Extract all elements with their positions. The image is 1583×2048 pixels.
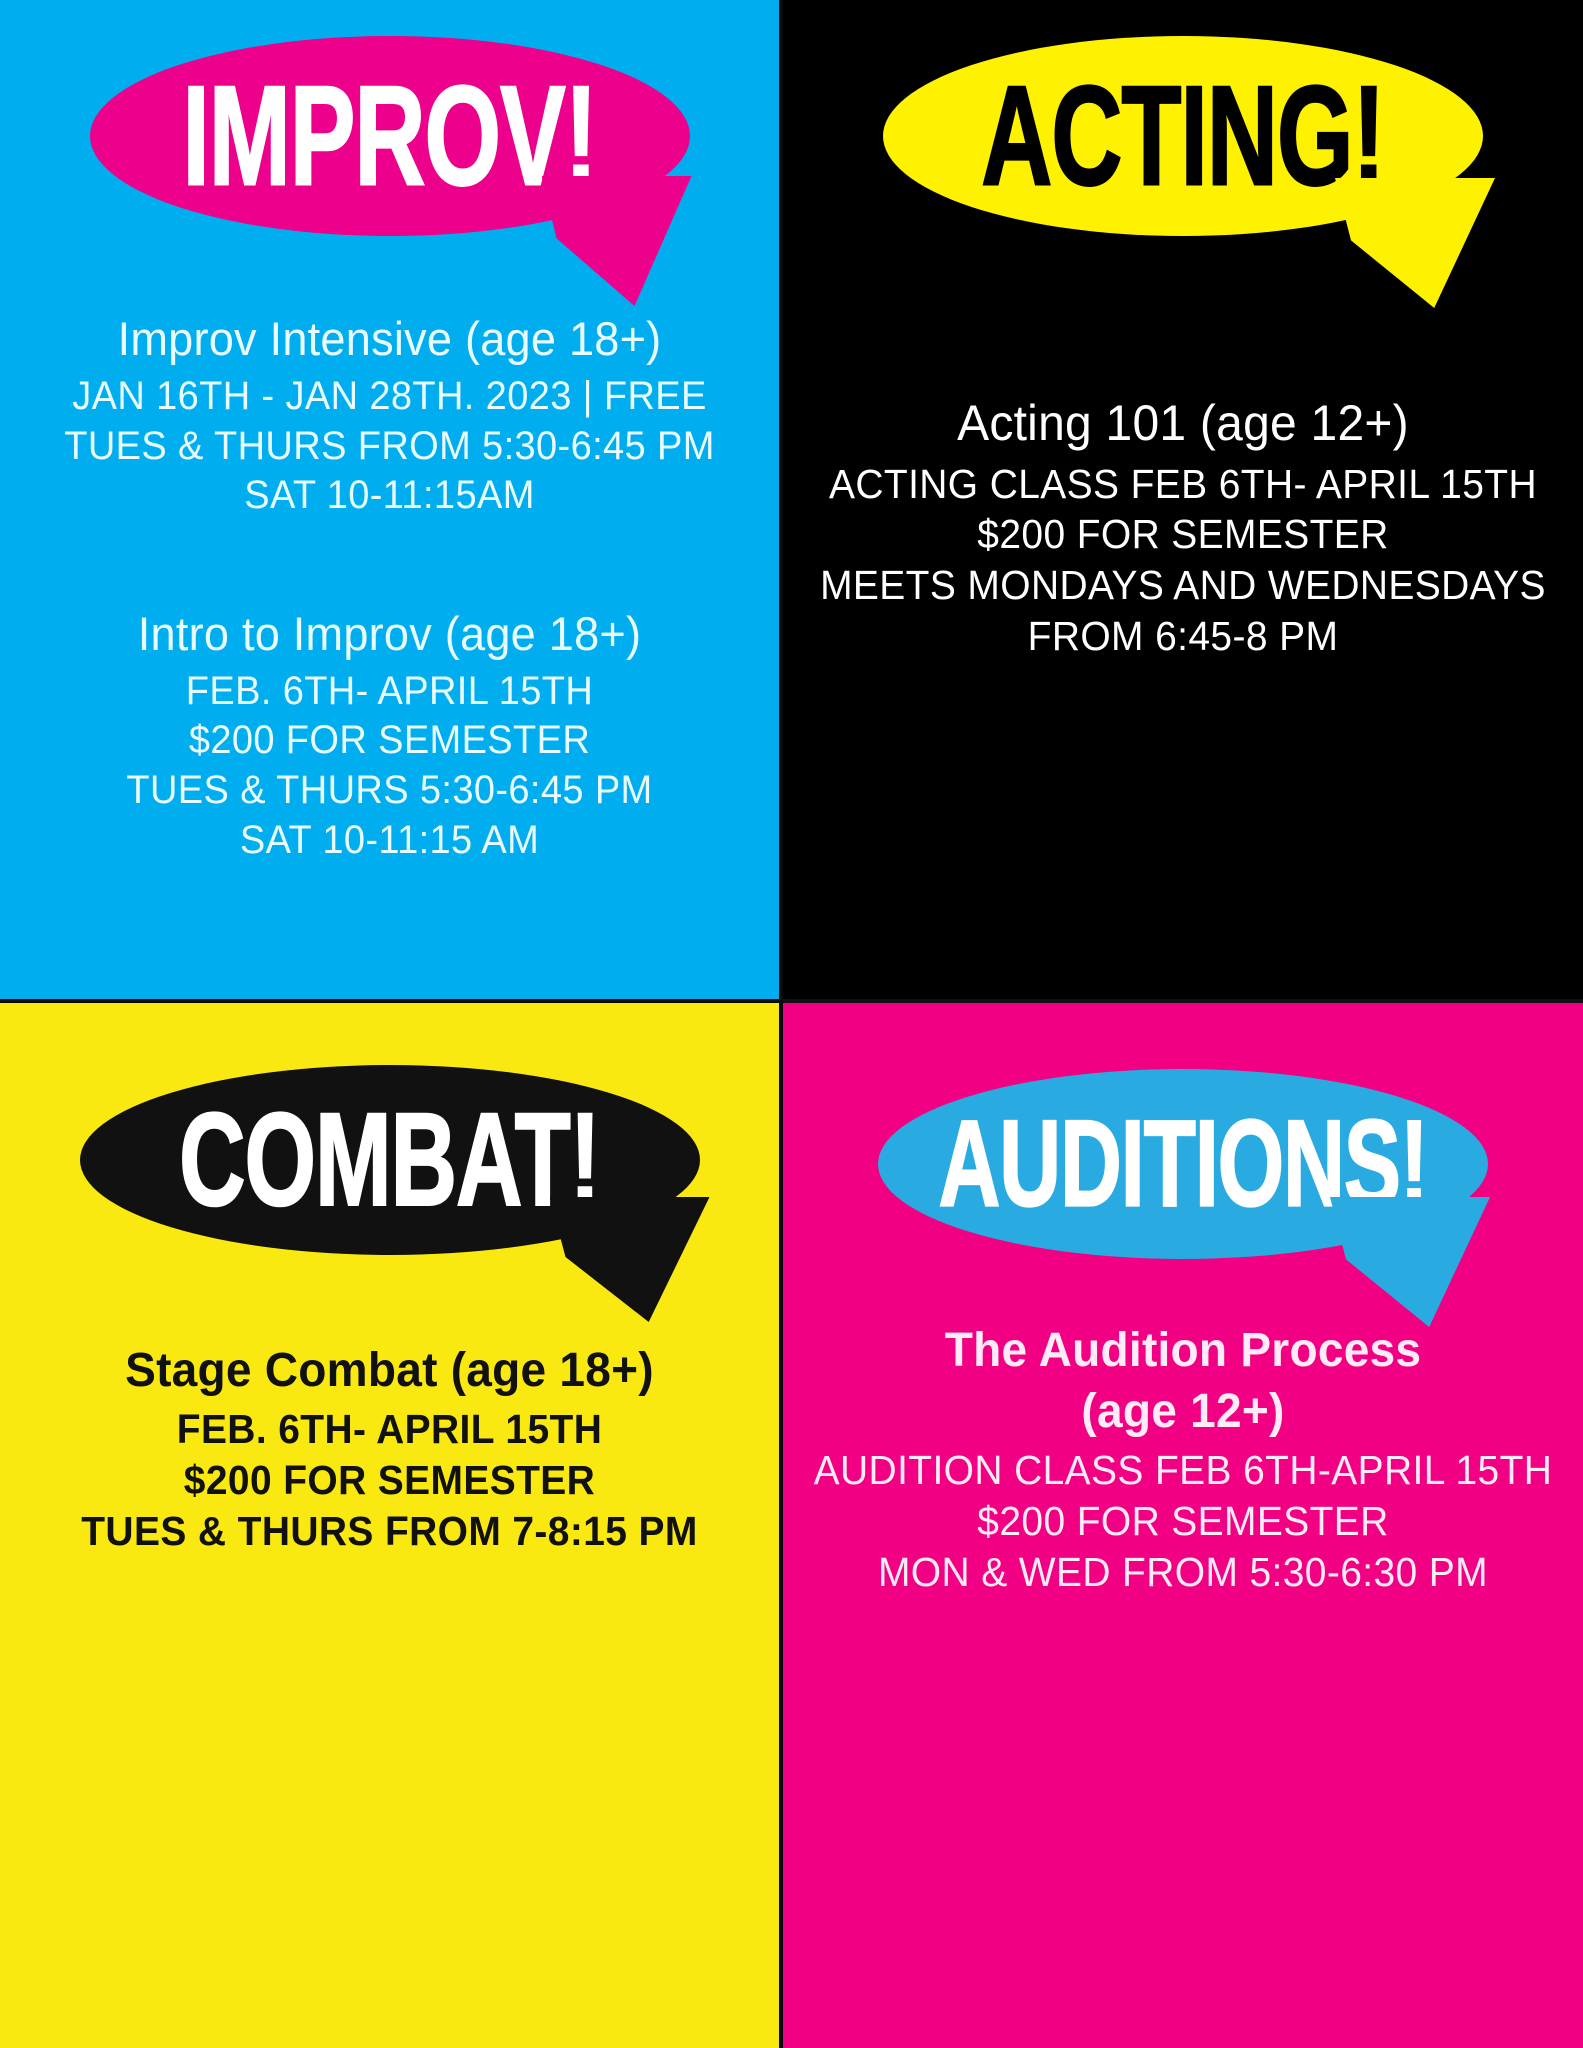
quadrant-combat: COMBAT! Stage Combat (age 18+) FEB. 6TH-… <box>0 1003 783 2048</box>
combat-bubble-label: COMBAT! <box>179 1094 599 1226</box>
improv-bubble-label: IMPROV! <box>182 65 596 207</box>
course-detail-line: TUES & THURS 5:30-6:45 PM <box>19 766 759 816</box>
course-detail-line: $200 FOR SEMESTER <box>803 1496 1563 1547</box>
speech-bubble-icon: ACTING! <box>883 36 1483 236</box>
course-detail-line: TUES & THURS FROM 7-8:15 PM <box>19 1506 759 1557</box>
combat-speech-bubble: COMBAT! <box>0 1065 779 1255</box>
quadrant-acting: ACTING! Acting 101 (age 12+) ACTING CLAS… <box>783 0 1583 1003</box>
speech-bubble-icon: COMBAT! <box>80 1065 700 1255</box>
course-detail-line: SAT 10-11:15 AM <box>19 816 759 866</box>
speech-bubble-icon: AUDITIONS! <box>878 1069 1488 1259</box>
course-detail-line: AUDITION CLASS FEB 6TH-APRIL 15TH <box>803 1445 1563 1496</box>
course-acting-101: Acting 101 (age 12+) ACTING CLASS FEB 6T… <box>783 395 1583 662</box>
course-detail-line: FROM 6:45-8 PM <box>803 611 1563 662</box>
course-title: Intro to Improv (age 18+) <box>16 607 764 661</box>
course-title-second-line: (age 12+) <box>799 1384 1567 1439</box>
course-detail-line: MON & WED FROM 5:30-6:30 PM <box>803 1547 1563 1598</box>
combat-course-list: Stage Combat (age 18+) FEB. 6TH- APRIL 1… <box>0 1343 779 1557</box>
speech-bubble-tail-icon <box>1335 178 1495 308</box>
quadrant-auditions: AUDITIONS! The Audition Process (age 12+… <box>783 1003 1583 2048</box>
acting-bubble-label: ACTING! <box>981 65 1384 207</box>
quadrant-improv: IMPROV! Improv Intensive (age 18+) JAN 1… <box>0 0 783 1003</box>
course-detail-line: MEETS MONDAYS AND WEDNESDAYS <box>803 560 1563 611</box>
course-detail-line: ACTING CLASS FEB 6TH- APRIL 15TH <box>803 459 1563 510</box>
course-detail-line: FEB. 6TH- APRIL 15TH <box>19 1404 759 1455</box>
speech-bubble-icon: IMPROV! <box>90 36 690 236</box>
course-detail-line: SAT 10-11:15AM <box>19 471 759 521</box>
course-title: Improv Intensive (age 18+) <box>16 312 764 366</box>
acting-course-list: Acting 101 (age 12+) ACTING CLASS FEB 6T… <box>783 395 1583 662</box>
course-detail-line: $200 FOR SEMESTER <box>19 716 759 766</box>
course-title: Acting 101 (age 12+) <box>799 395 1567 453</box>
auditions-speech-bubble: AUDITIONS! <box>783 1069 1583 1259</box>
speech-bubble-tail-icon <box>550 1197 710 1322</box>
course-detail-line: $200 FOR SEMESTER <box>803 509 1563 560</box>
course-detail-line: JAN 16TH - JAN 28TH. 2023 | FREE <box>19 372 759 422</box>
improv-speech-bubble: IMPROV! <box>0 36 779 236</box>
course-audition-process: The Audition Process (age 12+) AUDITION … <box>783 1323 1583 1598</box>
course-improv-intensive: Improv Intensive (age 18+) JAN 16TH - JA… <box>0 312 779 521</box>
course-stage-combat: Stage Combat (age 18+) FEB. 6TH- APRIL 1… <box>0 1343 779 1557</box>
course-detail-line: $200 FOR SEMESTER <box>19 1455 759 1506</box>
course-intro-to-improv: Intro to Improv (age 18+) FEB. 6TH- APRI… <box>0 607 779 865</box>
course-title: Stage Combat (age 18+) <box>16 1343 764 1398</box>
course-title: The Audition Process <box>799 1323 1567 1378</box>
speech-bubble-tail-icon <box>1330 1197 1490 1327</box>
auditions-course-list: The Audition Process (age 12+) AUDITION … <box>783 1323 1583 1598</box>
course-detail-line: FEB. 6TH- APRIL 15TH <box>19 667 759 717</box>
acting-speech-bubble: ACTING! <box>783 36 1583 236</box>
speech-bubble-tail-icon <box>542 176 692 306</box>
class-schedule-poster: IMPROV! Improv Intensive (age 18+) JAN 1… <box>0 0 1583 2048</box>
course-detail-line: TUES & THURS FROM 5:30-6:45 PM <box>19 422 759 472</box>
improv-course-list: Improv Intensive (age 18+) JAN 16TH - JA… <box>0 312 779 865</box>
